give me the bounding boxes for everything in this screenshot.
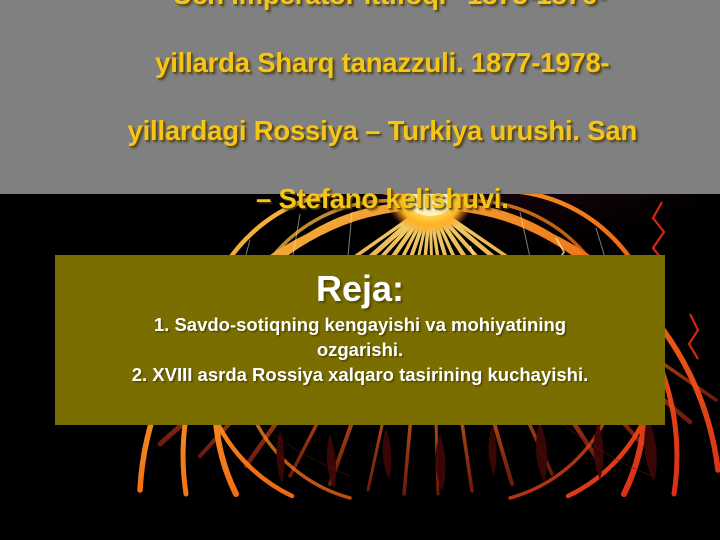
agenda-box: Reja: 1. Savdo-sotiqning kengayishi va m… [55,255,665,425]
agenda-heading: Reja: [316,268,404,310]
title-line-2: yillarda Sharq tanazzuli. 1877-1978- [155,47,609,78]
slide-title: “Uch imperator ittifoqi” 1875-1876- yill… [4,0,716,250]
list-item: ozgarishi. [67,337,653,362]
list-item: 1. Savdo-sotiqning kengayishi va mohiyat… [67,312,653,337]
list-item: 2. XVIII asrda Rossiya xalqaro tasirinin… [67,362,653,387]
slide-canvas: “Uch imperator ittifoqi” 1875-1876- yill… [0,0,720,540]
title-line-3: yillardagi Rossiya – Turkiya urushi. San [128,115,638,146]
title-line-4: – Stefano kelishuvi. [256,183,509,214]
title-band: “Uch imperator ittifoqi” 1875-1876- yill… [0,0,720,194]
title-line-1: “Uch imperator ittifoqi” 1875-1876- [159,0,606,10]
agenda-list: 1. Savdo-sotiqning kengayishi va mohiyat… [67,312,653,387]
